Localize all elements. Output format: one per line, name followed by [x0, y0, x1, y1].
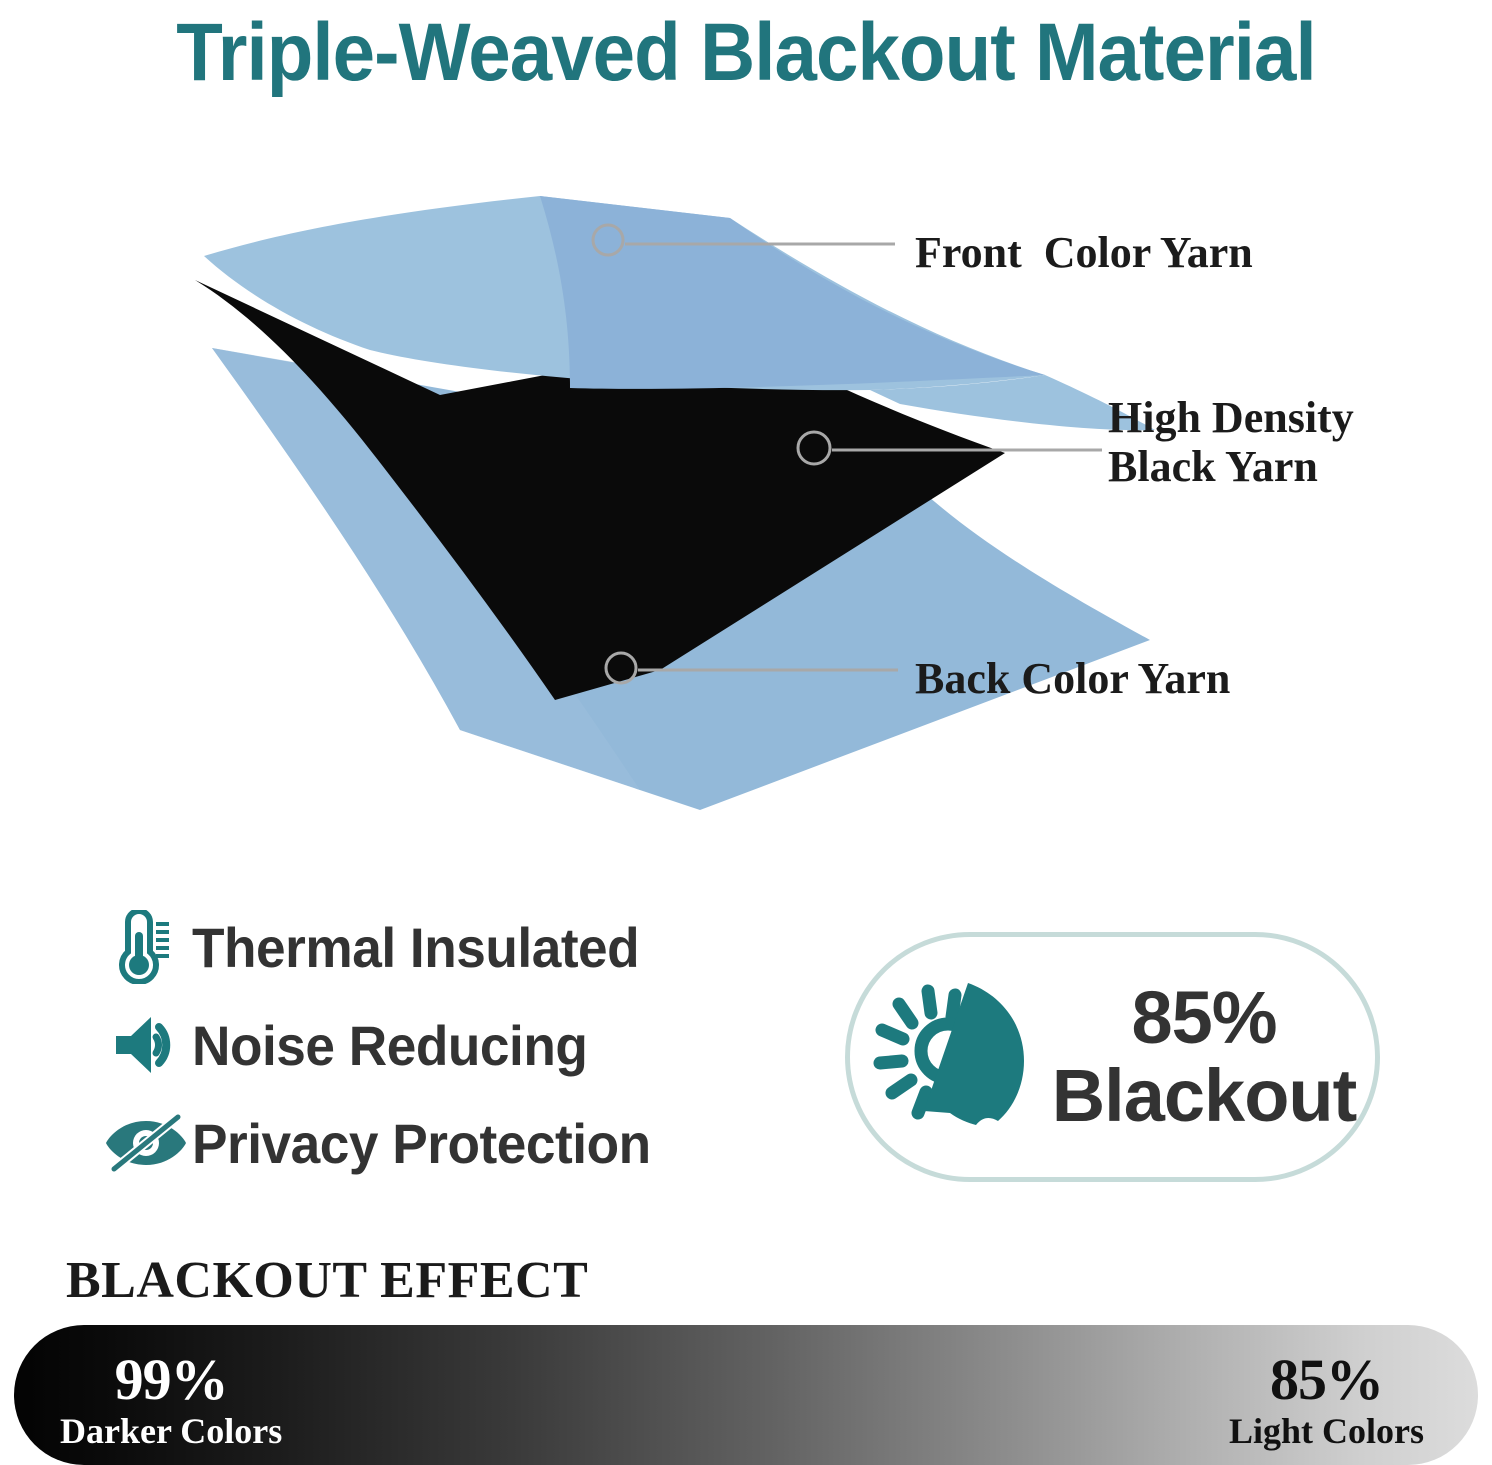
bar-right-percent: 85%: [1229, 1351, 1424, 1409]
feature-label: Noise Reducing: [192, 1013, 587, 1078]
badge-word: Blackout: [1052, 1059, 1357, 1133]
feature-item-noise-reducing: Noise Reducing: [100, 996, 800, 1094]
bar-left-caption: Darker Colors: [60, 1413, 282, 1449]
thermometer-icon: [100, 907, 192, 987]
layer-front-fold: [540, 196, 1045, 389]
callout-label-high-density-black-yarn: High Density Black Yarn: [1108, 393, 1354, 492]
bar-stat-light-colors: 85% Light Colors: [1229, 1351, 1424, 1449]
callout-label-back-color-yarn: Back Color Yarn: [915, 654, 1230, 703]
feature-item-privacy-protection: Privacy Protection: [100, 1094, 800, 1192]
feature-label: Thermal Insulated: [192, 915, 639, 980]
blackout-effect-heading: BLACKOUT EFFECT: [66, 1251, 588, 1310]
blackout-percentage-badge: 85% Blackout: [845, 932, 1380, 1182]
bar-left-percent: 99%: [60, 1351, 282, 1409]
bar-right-caption: Light Colors: [1229, 1413, 1424, 1449]
page-title: Triple-Weaved Blackout Material: [52, 0, 1440, 105]
feature-item-thermal-insulated: Thermal Insulated: [100, 898, 800, 996]
sun-behind-curtain-icon: [869, 970, 1044, 1145]
feature-list: Thermal Insulated Noise Reducing Privacy…: [100, 898, 800, 1192]
feature-label: Privacy Protection: [192, 1111, 651, 1176]
speaker-sound-icon: [100, 1005, 192, 1085]
badge-percent: 85%: [1131, 981, 1276, 1055]
badge-text-block: 85% Blackout: [1052, 981, 1357, 1133]
eye-slash-icon: [100, 1103, 192, 1183]
blackout-effect-gradient-bar: 99% Darker Colors 85% Light Colors: [14, 1325, 1478, 1465]
bar-stat-darker-colors: 99% Darker Colors: [60, 1351, 282, 1449]
callout-label-front-color-yarn: Front Color Yarn: [915, 228, 1253, 277]
